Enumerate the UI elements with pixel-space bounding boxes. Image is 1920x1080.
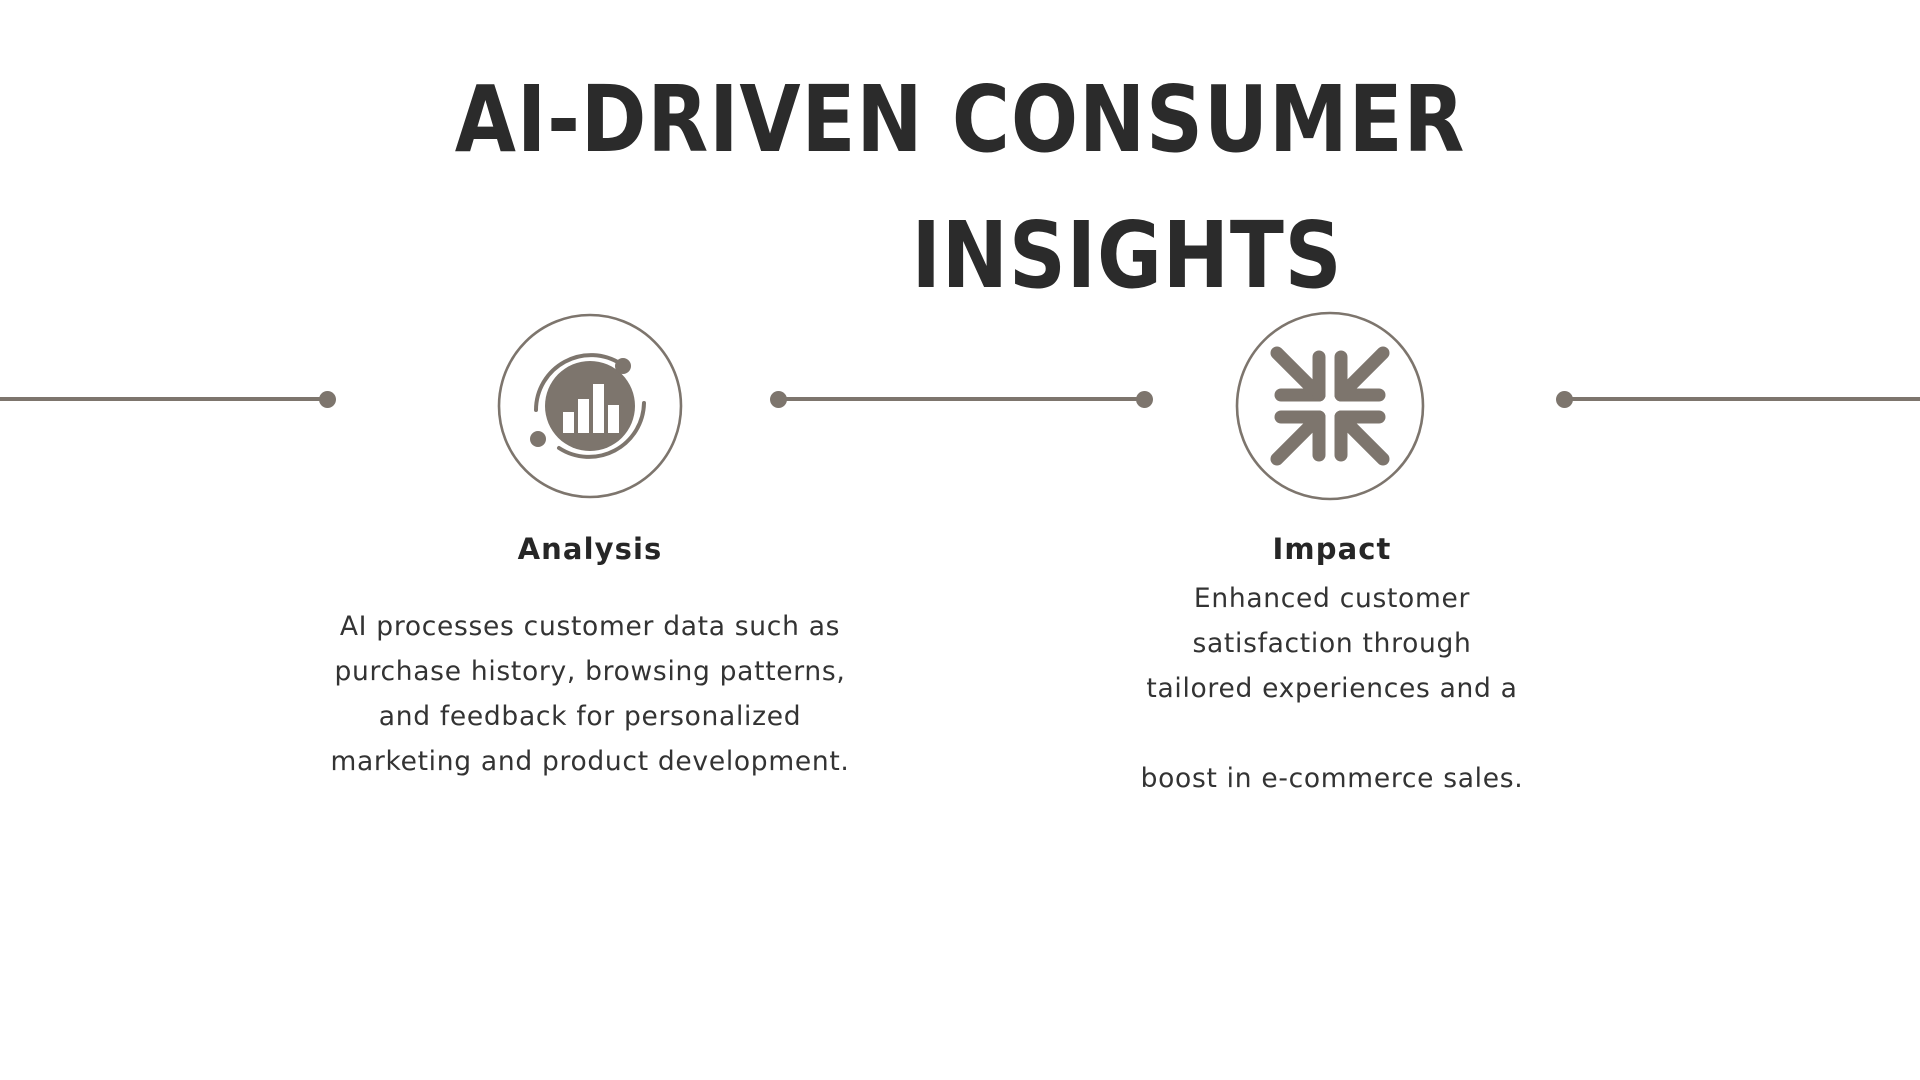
left-connector-line — [0, 397, 330, 401]
slide-canvas: AI-DRIVEN CONSUMER INSIGHTS — [0, 0, 1920, 1080]
page-title-line-1: AI-DRIVEN CONSUMER — [134, 52, 1785, 188]
page-title: AI-DRIVEN CONSUMER INSIGHTS — [0, 52, 1920, 324]
column-impact-body: Enhanced customer satisfaction through t… — [1072, 576, 1592, 801]
column-analysis-heading: Analysis — [330, 530, 850, 568]
page-title-line-2: INSIGHTS — [445, 188, 1809, 324]
column-analysis-body: AI processes customer data such as purch… — [330, 604, 850, 784]
connector-dot-right-start — [1556, 391, 1573, 408]
connector-dot-middle-start — [770, 391, 787, 408]
bar-chart-orbit-icon — [495, 311, 685, 501]
column-analysis: Analysis AI processes customer data such… — [330, 530, 850, 784]
middle-connector-line — [778, 397, 1146, 401]
right-connector-line — [1565, 397, 1920, 401]
column-impact: Impact Enhanced customer satisfaction th… — [1072, 530, 1592, 801]
column-impact-heading: Impact — [1072, 530, 1592, 568]
converging-arrows-icon — [1235, 311, 1425, 501]
connector-dot-middle-end — [1136, 391, 1153, 408]
connector-dot-left-end — [319, 391, 336, 408]
